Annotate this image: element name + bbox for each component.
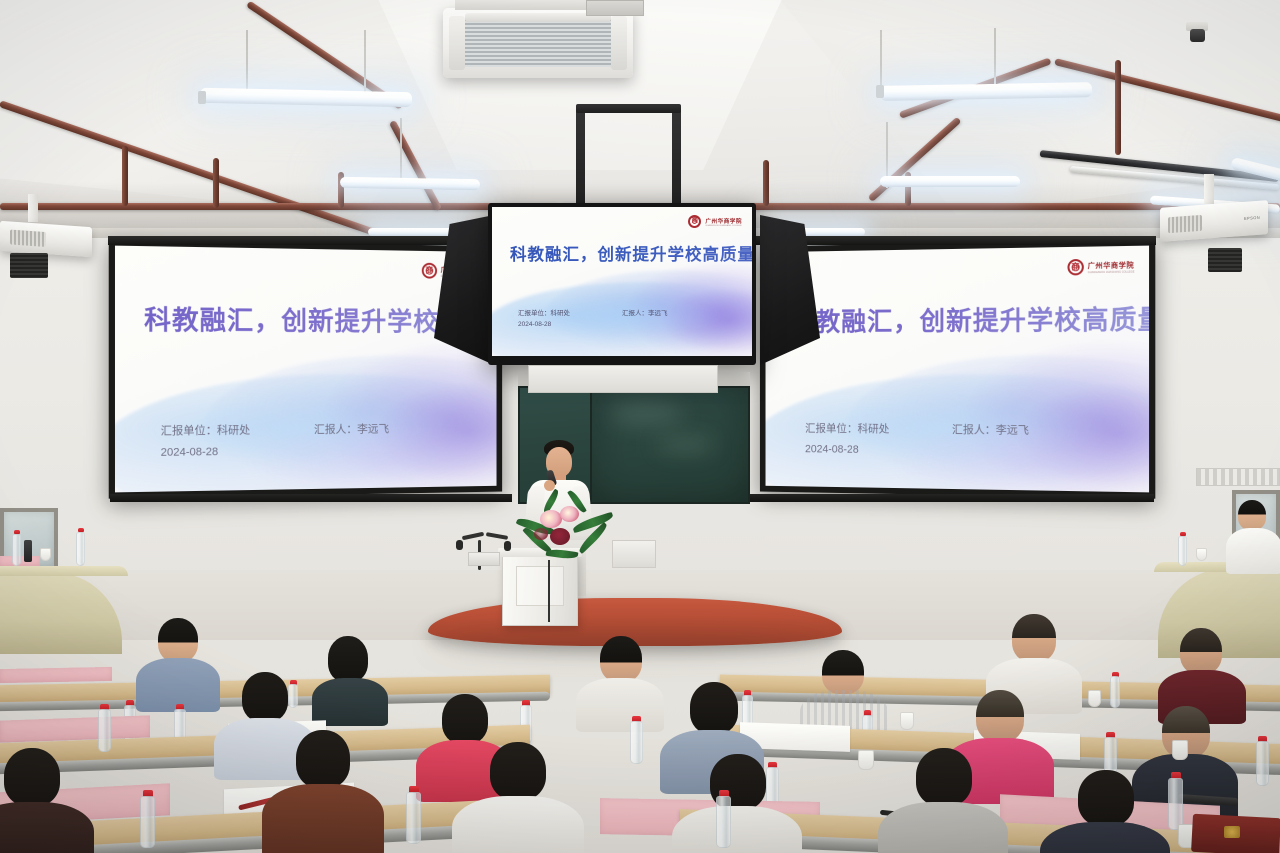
attendee-head	[442, 694, 488, 744]
right-screen-surface: 商 广州华商学院 GUANGZHOU HUASHANG COLLEGE 科教融汇…	[766, 246, 1150, 493]
ac-vane-right	[611, 16, 627, 70]
podium-side-shelf	[468, 552, 500, 566]
cup-b2	[1172, 740, 1188, 760]
bottle-body	[1168, 778, 1183, 830]
center-slide-artwork	[492, 207, 752, 356]
attendee-body	[672, 806, 802, 853]
attendee-body	[312, 678, 388, 726]
attendee-c3	[452, 742, 584, 853]
bottle-body	[12, 534, 21, 566]
projector-right-pole	[1204, 174, 1214, 204]
bottle-body	[630, 721, 643, 764]
air-conditioner-grille	[457, 19, 619, 67]
attendee-head	[1238, 500, 1266, 530]
bottle-b5	[1256, 736, 1269, 786]
center-logo-text: 广州华商学院 GUANGZHOU HUASHANG COLLEGE	[705, 217, 742, 227]
center-tv-screen: 商 广州华商学院 GUANGZHOU HUASHANG COLLEGE 科教融汇…	[492, 207, 752, 356]
attendee-head	[1078, 770, 1134, 826]
attendee-head	[296, 730, 350, 788]
flower-bloom-4	[534, 528, 548, 540]
flower-bloom-3	[550, 528, 570, 545]
podium-cable	[548, 560, 562, 622]
cup-fd-l1	[40, 548, 51, 561]
projector-left-pole	[28, 194, 38, 222]
bottle-body	[1110, 676, 1120, 708]
wall-speaker-left	[10, 253, 48, 278]
attendee-c1	[0, 748, 94, 853]
bottle-c3	[716, 790, 731, 848]
projector-left-vent	[10, 229, 46, 247]
chalkboard	[590, 386, 750, 504]
folder-emblem-c1	[1224, 826, 1240, 838]
projector-brand-label: EPSON	[1244, 215, 1260, 221]
right-screen-roller	[748, 236, 1156, 245]
right-logo-text: 广州华商学院 GUANGZHOU HUASHANG COLLEGE	[1088, 260, 1135, 274]
projector-right-body: EPSON	[1160, 200, 1268, 242]
attendee-head	[600, 636, 642, 682]
air-conditioner-unit	[443, 8, 633, 78]
flower-bloom-2	[560, 506, 579, 522]
pipe-horizontal-left	[0, 203, 560, 210]
right-projection-screen[interactable]: 商 广州华商学院 GUANGZHOU HUASHANG COLLEGE 科教融汇…	[760, 239, 1155, 498]
desk-a-pad-1	[0, 667, 112, 683]
camera-lens	[1190, 29, 1205, 42]
seal-icon: 商	[688, 215, 701, 228]
attendee-c4	[672, 754, 802, 853]
ceiling-light-6	[368, 228, 458, 236]
microphone-capsule-1	[456, 540, 463, 550]
attendee-head	[916, 748, 972, 806]
chalkboard-smudge-2	[656, 436, 716, 454]
bottle-c4	[1168, 772, 1183, 830]
light-hanger-1	[364, 30, 366, 98]
left-screen-bottom-bar	[110, 494, 512, 502]
attendee-a1	[136, 618, 220, 708]
ceiling-light-cap-1	[198, 91, 206, 104]
bottle-b1	[98, 704, 111, 752]
right-slide-unit: 汇报单位：科研处	[805, 420, 889, 436]
attendee-body	[1040, 822, 1170, 853]
tv-mount-post-right	[672, 108, 681, 214]
attendee-head	[1012, 614, 1056, 662]
attendee-c2	[262, 730, 384, 853]
attendee-head	[4, 748, 60, 806]
center-slide-presenter: 汇报人：李远飞	[622, 307, 668, 317]
attendee-body	[1226, 528, 1280, 574]
seal-icon: 商	[1067, 259, 1083, 276]
device-fd-l1	[24, 540, 32, 562]
left-slide-unit: 汇报单位：科研处	[161, 421, 251, 438]
ac-vane-left	[449, 16, 465, 70]
cup-b1	[858, 750, 874, 770]
side-table	[612, 540, 656, 568]
tv-stand-shelf	[528, 365, 718, 393]
wall-vent-right	[1196, 468, 1280, 486]
center-tv-monitor[interactable]: 商 广州华商学院 GUANGZHOU HUASHANG COLLEGE 科教融汇…	[488, 203, 756, 365]
tv-mount-crossbar	[576, 104, 681, 113]
right-slide-logo: 商 广州华商学院 GUANGZHOU HUASHANG COLLEGE	[1067, 258, 1134, 275]
cup-fd-r1	[1196, 548, 1207, 561]
right-slide-presenter: 汇报人：李远飞	[952, 421, 1029, 438]
tv-mount-post-left	[576, 108, 585, 214]
bottle-c2	[406, 786, 421, 844]
attendee-c6	[1040, 770, 1170, 853]
cup-a1	[900, 712, 914, 730]
bottle-body	[716, 796, 731, 848]
bottle-body	[140, 796, 155, 848]
flower-leaf-7	[546, 548, 579, 560]
left-slide-presenter: 汇报人：李远飞	[314, 420, 389, 437]
attendee-head	[328, 636, 368, 682]
front-attendee-right-1	[1228, 500, 1280, 572]
flower-bloom-1	[540, 510, 562, 528]
pipe-riser-right-a	[1115, 60, 1121, 155]
bottle-body	[1256, 741, 1269, 786]
bottle-fd-l2	[76, 528, 85, 566]
bottle-fd-l1	[12, 530, 21, 566]
projector-right-vent	[1168, 215, 1202, 233]
bottle-c1	[140, 790, 155, 848]
pipe-riser-left-a	[122, 146, 128, 206]
attendee-a3	[576, 636, 664, 728]
surveillance-camera	[1180, 22, 1216, 44]
bottle-body	[76, 532, 85, 566]
ceiling-light-4	[880, 176, 1020, 187]
center-slide-unit: 汇报单位：科研处	[518, 307, 570, 317]
attendee-head	[976, 690, 1024, 742]
bottle-b2	[630, 716, 643, 764]
right-screen-bottom-bar	[750, 494, 1154, 502]
attendee-head	[690, 682, 738, 734]
attendee-body	[262, 784, 384, 853]
attendee-head	[158, 618, 198, 662]
microphone-capsule-2	[504, 541, 511, 551]
attendee-body	[452, 796, 584, 853]
center-slide-logo: 商 广州华商学院 GUANGZHOU HUASHANG COLLEGE	[688, 215, 742, 228]
cup-a2	[1088, 690, 1101, 707]
wave-light-1	[500, 293, 729, 341]
attendee-head	[822, 650, 864, 694]
chalkboard-smudge-1	[610, 402, 684, 426]
left-slide-date: 2024-08-28	[161, 446, 219, 459]
bottle-body	[406, 792, 421, 844]
front-desk-left-top	[0, 566, 128, 576]
flower-arrangement	[516, 496, 612, 564]
ac-junction-box	[586, 0, 644, 16]
seal-icon: 商	[422, 263, 437, 279]
ceiling-light-cap-3	[876, 85, 884, 98]
attendee-body	[878, 802, 1008, 853]
pipe-riser-left-b	[213, 158, 219, 208]
projector-left-body	[0, 221, 92, 257]
left-screen-surface: 商 广州华商学院 GUANGZHOU HUASHANG COLLEGE 科教融汇…	[115, 246, 497, 493]
attendee-body	[0, 802, 94, 853]
right-slide-date: 2024-08-28	[805, 443, 859, 455]
light-hanger-2	[246, 30, 248, 96]
attendee-head	[242, 672, 288, 722]
center-slide-date: 2024-08-28	[518, 321, 551, 328]
pipe-riser-right-b	[763, 160, 769, 206]
bottle-a7	[1110, 672, 1120, 708]
bottle-body	[1178, 536, 1187, 566]
center-slide-title: 科教融汇，创新提升学校高质量发展	[510, 241, 752, 265]
right-slide-title: 科教融汇，创新提升学校高质量发展	[790, 298, 1149, 338]
bottle-body	[98, 709, 111, 752]
bottle-fd-r1	[1178, 532, 1187, 566]
attendee-head	[1180, 628, 1222, 674]
attendee-c5	[878, 748, 1008, 853]
wall-speaker-right	[1208, 248, 1242, 272]
conference-hall-photo: EPSON 商 广州华商学院 GUANGZHOU HUASHANG COLLEG…	[0, 0, 1280, 853]
attendee-head	[490, 742, 546, 800]
attendee-a2	[310, 636, 388, 720]
attendee-body	[576, 678, 664, 732]
